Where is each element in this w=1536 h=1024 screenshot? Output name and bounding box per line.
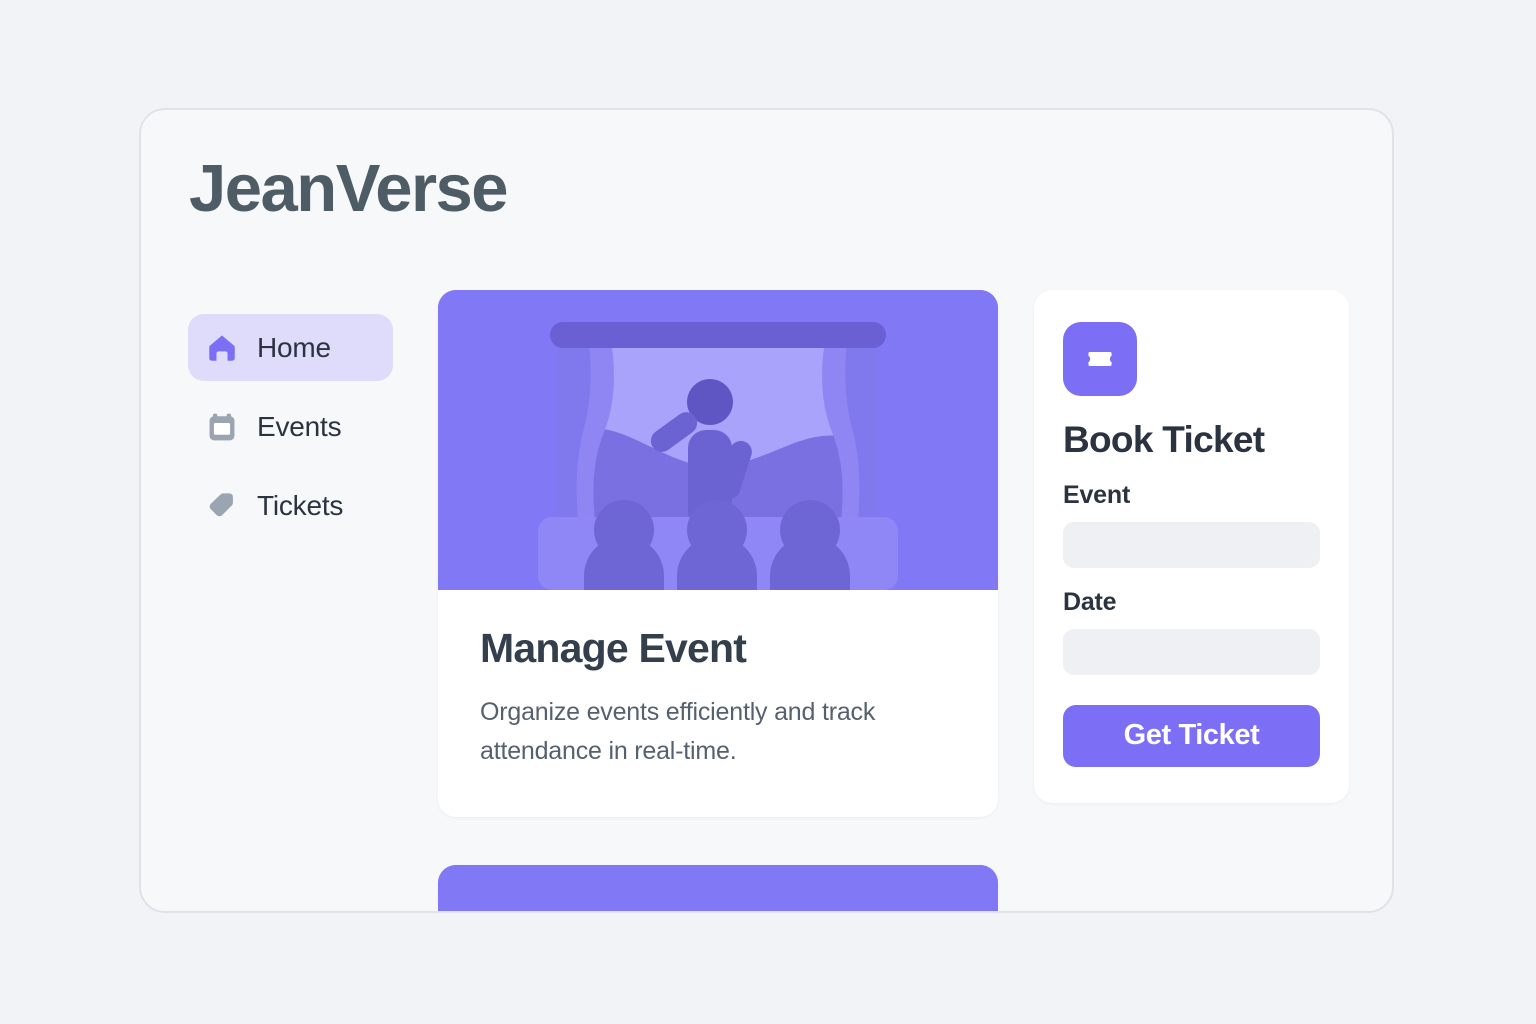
main-content: Manage Event Organize events efficiently… [438, 290, 1346, 911]
calendar-icon [205, 410, 239, 444]
booking-column: Book Ticket Event Date Get Ticket [1034, 290, 1349, 803]
sidebar-item-label: Tickets [257, 490, 343, 522]
sidebar-item-label: Home [257, 332, 331, 364]
get-ticket-button[interactable]: Get Ticket [1063, 705, 1320, 767]
stage-speaker-audience-illustration [438, 290, 998, 590]
feature-card-column: Manage Event Organize events efficiently… [438, 290, 998, 913]
sidebar-item-label: Events [257, 411, 341, 443]
feature-card-manage-event[interactable]: Manage Event Organize events efficiently… [438, 290, 998, 817]
tag-icon [205, 489, 239, 523]
sidebar-item-home[interactable]: Home [188, 314, 393, 381]
sidebar-nav: Home Events Tickets [188, 314, 393, 551]
book-ticket-card: Book Ticket Event Date Get Ticket [1034, 290, 1349, 803]
ticket-icon [1063, 322, 1137, 396]
purple-hero-placeholder [438, 865, 998, 913]
sidebar-item-events[interactable]: Events [188, 393, 393, 460]
feature-card-secondary[interactable] [438, 865, 998, 913]
page-title: JeanVerse [189, 155, 507, 222]
book-ticket-title: Book Ticket [1063, 420, 1320, 461]
feature-card-title: Manage Event [480, 626, 956, 671]
event-field-label: Event [1063, 481, 1320, 510]
date-field-label: Date [1063, 588, 1320, 617]
sidebar-item-tickets[interactable]: Tickets [188, 472, 393, 539]
date-input[interactable] [1063, 629, 1320, 675]
app-shell: JeanVerse Home Events [139, 108, 1394, 913]
event-input[interactable] [1063, 522, 1320, 568]
home-icon [205, 331, 239, 365]
feature-card-body: Manage Event Organize events efficiently… [438, 590, 998, 817]
feature-card-description: Organize events efficiently and track at… [480, 693, 956, 771]
